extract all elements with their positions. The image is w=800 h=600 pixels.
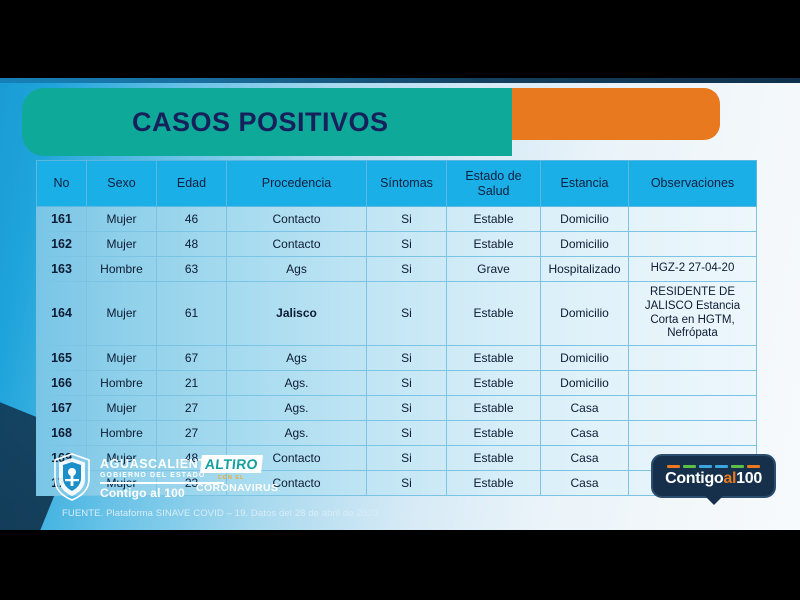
coat-of-arms-icon [52,453,92,501]
slide-footer: AGUASCALIENTES GOBIERNO DEL ESTADO Conti… [0,450,800,530]
cell-edad: 67 [157,346,227,371]
cell-sexo: Hombre [87,371,157,396]
table-row[interactable]: 162Mujer48ContactoSiEstableDomicilio [37,232,757,257]
cases-table-wrapper: No Sexo Edad Procedencia Síntomas Estado… [36,160,756,496]
cell-estado: Estable [447,207,541,232]
cell-procedencia: Ags [227,257,367,282]
slide-top-rule [0,78,800,83]
cell-procedencia: Ags. [227,371,367,396]
cell-procedencia: Ags. [227,421,367,446]
cell-estancia: Domicilio [541,282,629,346]
cell-no: 167 [37,396,87,421]
cell-estancia: Casa [541,421,629,446]
cell-observaciones [629,346,757,371]
cell-sintomas: Si [367,371,447,396]
table-row[interactable]: 164Mujer61JaliscoSiEstableDomicilioRESID… [37,282,757,346]
cell-sintomas: Si [367,207,447,232]
cell-procedencia: Jalisco [227,282,367,346]
cell-sexo: Hombre [87,421,157,446]
table-row[interactable]: 163Hombre63AgsSiGraveHospitalizadoHGZ-2 … [37,257,757,282]
table-row[interactable]: 168Hombre27Ags.SiEstableCasa [37,421,757,446]
cell-procedencia: Contacto [227,232,367,257]
slide-screenshot: CASOS POSITIVOS No Sexo Edad Procedencia… [0,0,800,600]
table-row[interactable]: 161Mujer46ContactoSiEstableDomicilio [37,207,757,232]
cell-estado: Estable [447,232,541,257]
cell-estado: Estable [447,421,541,446]
cell-estado: Grave [447,257,541,282]
cell-no: 164 [37,282,87,346]
cell-procedencia: Ags. [227,396,367,421]
cell-estado: Estable [447,346,541,371]
column-header-sexo: Sexo [87,161,157,207]
cell-estancia: Hospitalizado [541,257,629,282]
cell-estado: Estable [447,396,541,421]
column-header-estado-salud: Estado de Salud [447,161,541,207]
cell-no: 161 [37,207,87,232]
badge-word-contigo: Contigo [665,470,723,487]
column-header-no: No [37,161,87,207]
cell-observaciones: HGZ-2 27-04-20 [629,257,757,282]
cell-edad: 27 [157,396,227,421]
column-header-procedencia: Procedencia [227,161,367,207]
cell-estancia: Domicilio [541,232,629,257]
badge-word-al: al [723,470,736,487]
cell-observaciones [629,371,757,396]
badge-word-100: 100 [736,470,762,487]
cell-sintomas: Si [367,282,447,346]
cell-estancia: Casa [541,396,629,421]
cell-observaciones: RESIDENTE DE JALISCO Estancia Corta en H… [629,282,757,346]
table-row[interactable]: 166Hombre21Ags.SiEstableDomicilio [37,371,757,396]
cell-estancia: Domicilio [541,371,629,396]
cell-observaciones [629,207,757,232]
cell-no: 165 [37,346,87,371]
cell-sintomas: Si [367,421,447,446]
cell-sexo: Hombre [87,257,157,282]
cell-edad: 63 [157,257,227,282]
cell-estado: Estable [447,282,541,346]
altiro-subtitle: CON EL [196,475,266,481]
page-title: CASOS POSITIVOS [132,107,389,138]
cell-procedencia: Contacto [227,207,367,232]
column-header-edad: Edad [157,161,227,207]
column-header-sintomas: Síntomas [367,161,447,207]
altiro-logo: ALTIRO CON EL CORONAVIRUS [196,455,266,494]
altiro-coronavirus: CORONAVIRUS [196,482,266,494]
altiro-title: ALTIRO [200,455,263,473]
cell-estancia: Domicilio [541,346,629,371]
cell-edad: 48 [157,232,227,257]
cell-sexo: Mujer [87,396,157,421]
cell-no: 166 [37,371,87,396]
cell-observaciones [629,421,757,446]
cell-sintomas: Si [367,396,447,421]
title-banner: CASOS POSITIVOS [22,88,512,156]
column-header-observaciones: Observaciones [629,161,757,207]
cell-edad: 21 [157,371,227,396]
cell-estado: Estable [447,371,541,396]
badge-color-bars [667,465,760,468]
badge-text: Contigoal100 [665,470,762,488]
cell-sexo: Mujer [87,346,157,371]
cell-estancia: Domicilio [541,207,629,232]
cell-sexo: Mujer [87,232,157,257]
cell-no: 162 [37,232,87,257]
cell-sintomas: Si [367,232,447,257]
table-row[interactable]: 167Mujer27Ags.SiEstableCasa [37,396,757,421]
cell-sintomas: Si [367,257,447,282]
source-note: FUENTE. Plataforma SINAVE COVID – 19. Da… [62,508,378,519]
positive-cases-table: No Sexo Edad Procedencia Síntomas Estado… [36,160,757,496]
cell-procedencia: Ags [227,346,367,371]
cell-edad: 61 [157,282,227,346]
cell-observaciones [629,232,757,257]
table-head: No Sexo Edad Procedencia Síntomas Estado… [37,161,757,207]
contigo-al-100-badge: Contigoal100 [651,454,776,498]
column-header-estancia: Estancia [541,161,629,207]
cell-no: 168 [37,421,87,446]
table-row[interactable]: 165Mujer67AgsSiEstableDomicilio [37,346,757,371]
cell-no: 163 [37,257,87,282]
table-header-row: No Sexo Edad Procedencia Síntomas Estado… [37,161,757,207]
cell-sexo: Mujer [87,282,157,346]
cell-edad: 27 [157,421,227,446]
presentation-slide: CASOS POSITIVOS No Sexo Edad Procedencia… [0,78,800,530]
cell-sintomas: Si [367,346,447,371]
cell-sexo: Mujer [87,207,157,232]
cell-edad: 46 [157,207,227,232]
cell-observaciones [629,396,757,421]
